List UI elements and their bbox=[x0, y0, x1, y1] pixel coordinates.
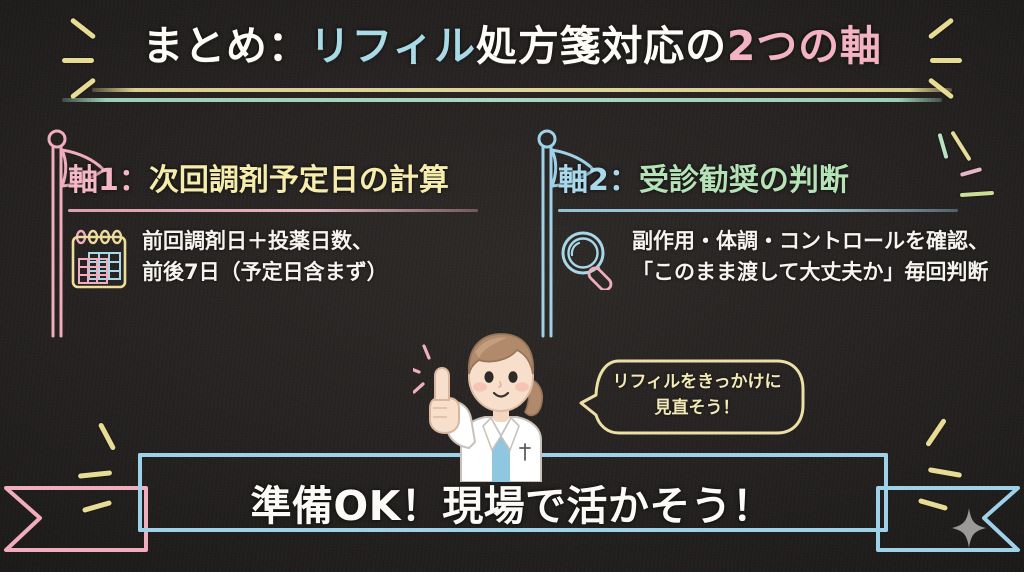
title-rule-green bbox=[62, 98, 942, 102]
calendar-icon bbox=[68, 228, 130, 290]
title-segment-shohousen: 処方箋対応の bbox=[476, 22, 727, 70]
slide-canvas: まとめ：リフィル処方箋対応の2つの軸 軸1：次回調剤予定日の計算 bbox=[0, 0, 1024, 572]
column-1-heading: 軸1：次回調剤予定日の計算 bbox=[68, 164, 512, 199]
sparkle-star-icon bbox=[952, 508, 986, 548]
title-segment-refill: リフィル bbox=[310, 22, 476, 70]
column-2-rule bbox=[558, 209, 958, 212]
column-2-detail-line-1: 副作用・体調・コントロールを確認、 bbox=[632, 226, 989, 258]
column-2-heading-label: 軸2： bbox=[558, 163, 639, 198]
title-segment-two-axes: 2つの軸 bbox=[727, 22, 882, 70]
speech-bubble: リフィルをきっかけに 見直そう！ bbox=[577, 355, 809, 439]
magnifier-icon bbox=[558, 228, 620, 290]
column-2-heading-text: 受診勧奨の判断 bbox=[639, 163, 849, 198]
column-2-detail-line-2: 「このまま渡して大丈夫か」毎回判断 bbox=[632, 257, 989, 289]
column-2-heading: 軸2：受診勧奨の判断 bbox=[558, 164, 1002, 199]
column-1-detail-line-2: 前後7日（予定日含まず） bbox=[142, 257, 388, 289]
column-1-detail-line-1: 前回調剤日＋投薬日数、 bbox=[142, 226, 388, 258]
column-2-detail: 副作用・体調・コントロールを確認、 「このまま渡して大丈夫か」毎回判断 bbox=[558, 226, 1002, 290]
title-underlines bbox=[0, 88, 1024, 102]
column-1-detail: 前回調剤日＋投薬日数、 前後7日（予定日含まず） bbox=[68, 226, 512, 290]
column-1-heading-text: 次回調剤予定日の計算 bbox=[149, 163, 449, 198]
column-axis-1: 軸1：次回調剤予定日の計算 bbox=[32, 126, 512, 341]
column-1-rule bbox=[68, 209, 478, 212]
speech-bubble-text: リフィルをきっかけに 見直そう！ bbox=[595, 369, 799, 422]
axes-columns: 軸1：次回調剤予定日の計算 bbox=[0, 126, 1024, 341]
column-1-detail-text: 前回調剤日＋投薬日数、 前後7日（予定日含まず） bbox=[142, 226, 388, 290]
column-2-detail-text: 副作用・体調・コントロールを確認、 「このまま渡して大丈夫か」毎回判断 bbox=[632, 226, 989, 290]
speech-bubble-line-2: 見直そう！ bbox=[595, 395, 799, 421]
page-title: まとめ：リフィル処方箋対応の2つの軸 bbox=[0, 22, 1024, 70]
title-rule-yellow bbox=[92, 88, 952, 92]
avatar-pharmacist bbox=[413, 322, 589, 482]
column-axis-2: 軸2：受診勧奨の判断 副作用・体調・コントロールを確認、 「このまま渡して大丈夫… bbox=[522, 126, 1002, 341]
column-1-heading-label: 軸1： bbox=[68, 163, 149, 198]
column-1-body: 軸1：次回調剤予定日の計算 bbox=[68, 164, 512, 290]
title-segment-matome: まとめ： bbox=[142, 22, 309, 70]
speech-bubble-line-1: リフィルをきっかけに bbox=[595, 369, 799, 395]
column-2-body: 軸2：受診勧奨の判断 副作用・体調・コントロールを確認、 「このまま渡して大丈夫… bbox=[558, 164, 1002, 290]
